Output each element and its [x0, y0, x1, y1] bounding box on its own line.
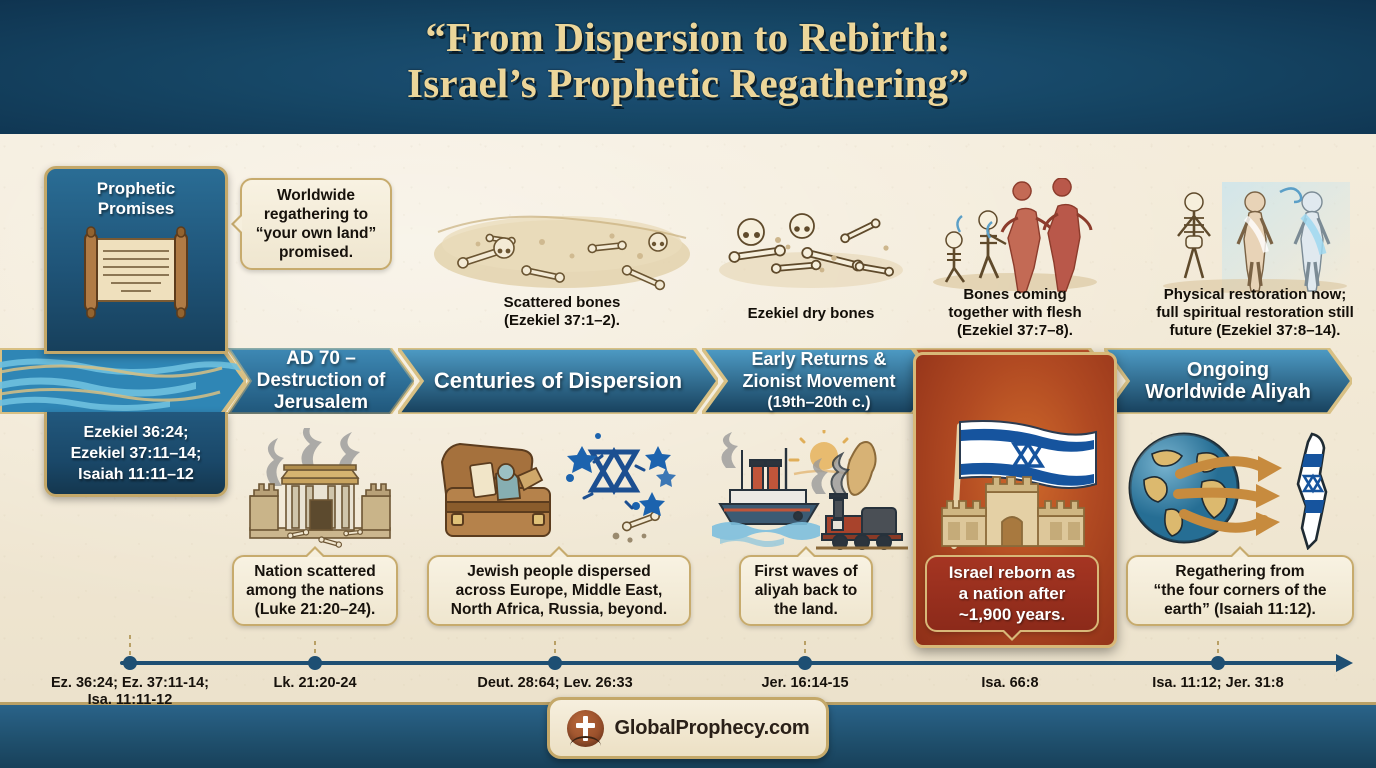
early-returns-sub: (19th–20th c.) — [742, 392, 895, 414]
axis-label-3: Jer. 16:14-15 — [715, 675, 895, 692]
left-scripture-references: Ezekiel 36:24; Ezekiel 37:11–14; Isaiah … — [44, 412, 228, 497]
callout-diaspora: Jewish people dispersed across Europe, M… — [427, 555, 691, 626]
left-scripture-references-text: Ezekiel 36:24; Ezekiel 37:11–14; Isaiah … — [71, 422, 202, 485]
caption-dry-bones: Ezekiel dry bones — [716, 305, 906, 323]
axis-stem — [314, 641, 316, 657]
callout-tail-left — [231, 213, 242, 235]
timeline-band: AD 70 – Destruction of Jerusalem Centuri… — [0, 348, 1376, 414]
caption-bones-flesh: Bones coming together with flesh (Ezekie… — [920, 286, 1110, 340]
axis-label-4: Isa. 66:8 — [930, 675, 1090, 692]
promise-callout: Worldwide regathering to “your own land”… — [240, 178, 392, 270]
caption-restoration: Physical restoration now; full spiritual… — [1136, 286, 1374, 340]
axis-dot — [548, 656, 562, 670]
israeli-flag-and-walls-icon — [924, 420, 1102, 552]
callout-israel-reborn-text: Israel reborn as a nation after ~1,900 y… — [949, 562, 1076, 625]
bones-with-flesh-icon — [930, 178, 1100, 294]
dry-bones-icon — [716, 192, 906, 292]
title-line-1: “From Dispersion to Rebirth: — [0, 14, 1376, 60]
axis-dot — [123, 656, 137, 670]
timeline-label-aliyah: Ongoing Worldwide Aliyah — [1131, 359, 1325, 403]
axis-line — [120, 661, 1342, 665]
callout-worldwide-regathering: Regathering from “the four corners of th… — [1126, 555, 1354, 626]
callout-temple-destroyed: Nation scattered among the nations (Luke… — [232, 555, 398, 626]
scripture-axis: Ez. 36:24; Ez. 37:11-14; Isa. 11:11-12 L… — [0, 655, 1376, 703]
water-waves-icon — [0, 348, 246, 414]
axis-label-1: Lk. 21:20-24 — [225, 675, 405, 692]
axis-stem — [129, 635, 131, 657]
callout-first-aliyah: First waves of aliyah back to the land. — [739, 555, 873, 626]
callout-israel-reborn: Israel reborn as a nation after ~1,900 y… — [925, 555, 1099, 632]
timeline-segment-early-returns[interactable]: Early Returns & Zionist Movement (19th–2… — [702, 348, 936, 414]
cross-sunrise-bible-icon — [567, 710, 604, 747]
axis-label-5: Isa. 11:12; Jer. 31:8 — [1108, 675, 1328, 692]
promise-callout-text: Worldwide regathering to “your own land”… — [251, 186, 381, 262]
axis-stem — [804, 641, 806, 657]
page-title: “From Dispersion to Rebirth: Israel’s Pr… — [0, 14, 1376, 106]
timeline-label-early-returns: Early Returns & Zionist Movement (19th–2… — [728, 326, 909, 436]
callout-first-aliyah-text: First waves of aliyah back to the land. — [754, 562, 857, 619]
callout-temple-destroyed-text: Nation scattered among the nations (Luke… — [246, 562, 384, 619]
timeline-segment-dispersion[interactable]: Centuries of Dispersion — [398, 348, 718, 414]
footer-bar: GlobalProphecy.com — [0, 702, 1376, 768]
timeline-label-ad70: AD 70 – Destruction of Jerusalem — [243, 348, 400, 414]
caption-scattered-bones: Scattered bones (Ezekiel 37:1–2). — [432, 294, 692, 330]
callout-worldwide-regathering-text: Regathering from “the four corners of th… — [1153, 562, 1326, 619]
axis-dot — [1003, 656, 1017, 670]
callout-diaspora-text: Jewish people dispersed across Europe, M… — [451, 562, 667, 619]
brand-name: GlobalProphecy.com — [615, 717, 810, 740]
axis-stem — [1217, 641, 1219, 657]
brand-badge[interactable]: GlobalProphecy.com — [547, 697, 829, 759]
prophetic-promises-card[interactable]: Prophetic Promises — [44, 166, 228, 354]
axis-arrow-icon — [1336, 654, 1353, 672]
early-returns-main: Early Returns & Zionist Movement — [742, 349, 895, 391]
prophetic-promises-title: Prophetic Promises — [47, 169, 225, 219]
torah-scroll-icon — [71, 225, 201, 320]
timeline-segment-waters[interactable] — [0, 348, 246, 414]
axis-dot — [1211, 656, 1225, 670]
title-line-2: Israel’s Prophetic Regathering” — [0, 60, 1376, 106]
callout-tail-down — [1001, 630, 1023, 641]
axis-stem — [554, 641, 556, 657]
burning-temple-icon — [246, 428, 394, 550]
timeline-segment-ad70[interactable]: AD 70 – Destruction of Jerusalem — [228, 348, 414, 414]
restored-bodies-icon — [1160, 178, 1350, 294]
timeline-segment-aliyah[interactable]: Ongoing Worldwide Aliyah — [1104, 348, 1352, 414]
infographic-canvas: “From Dispersion to Rebirth: Israel’s Pr… — [0, 0, 1376, 768]
ship-and-train-icon — [712, 430, 912, 552]
globe-arrows-israel-map-icon — [1122, 428, 1358, 550]
header-banner: “From Dispersion to Rebirth: Israel’s Pr… — [0, 0, 1376, 137]
axis-dot — [308, 656, 322, 670]
axis-label-0: Ez. 36:24; Ez. 37:11-14; Isa. 11:11-12 — [15, 675, 245, 709]
timeline-label-dispersion: Centuries of Dispersion — [420, 370, 696, 392]
axis-dot — [798, 656, 812, 670]
axis-label-2: Deut. 28:64; Lev. 26:33 — [435, 675, 675, 692]
scattered-bones-icon — [432, 182, 692, 292]
suitcase-star-of-david-icon — [430, 432, 690, 548]
